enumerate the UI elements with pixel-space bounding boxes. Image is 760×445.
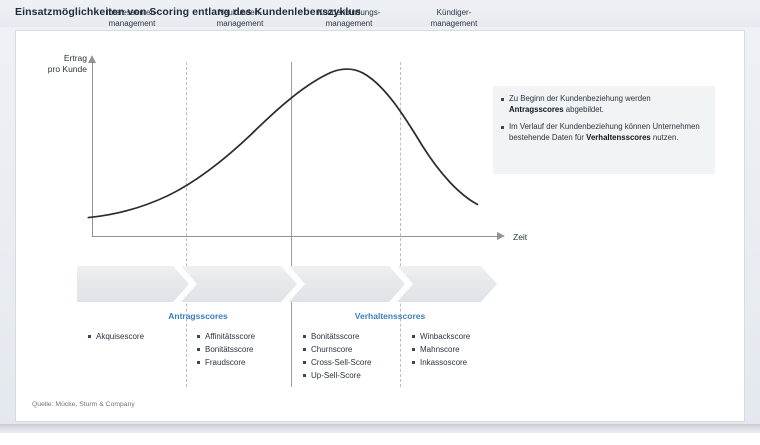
phase-2-line2: management xyxy=(217,19,264,28)
score-item: Inkassoscore xyxy=(412,356,470,369)
score-item: Bonitätsscore xyxy=(303,330,371,343)
y-axis-label: Ertrag pro Kunde xyxy=(37,53,87,75)
score-column-2: Affinitätsscore Bonitätsscore Fraudscore xyxy=(197,330,255,369)
y-axis-label-line1: Ertrag xyxy=(64,53,87,63)
phase-label-neukundenmanagement: Neukunden- management xyxy=(190,7,290,29)
score-column-3: Bonitätsscore Churnscore Cross-Sell-Scor… xyxy=(303,330,371,382)
score-group-heading-antragsscores: Antragsscores xyxy=(150,311,246,321)
callout-bullet-1: Zu Beginn der Kundenbeziehung werden Ant… xyxy=(509,94,705,115)
bottom-margin xyxy=(0,433,760,445)
score-item: Mahnscore xyxy=(412,343,470,356)
x-axis-line xyxy=(92,236,498,237)
phase-4-line2: management xyxy=(431,19,478,28)
y-axis-line xyxy=(92,62,93,236)
phase-3-line2: management xyxy=(326,19,373,28)
phase-chevron-band xyxy=(77,266,497,302)
x-axis-arrowhead-icon xyxy=(497,232,505,240)
phase-2-line1: Neukunden- xyxy=(218,8,262,17)
callout-bullet-2: Im Verlauf der Kundenbeziehung können Un… xyxy=(509,122,705,143)
score-item: Bonitätsscore xyxy=(197,343,255,356)
phase-label-kuendigermanagement: Kündiger- management xyxy=(406,7,502,29)
score-item: Winbackscore xyxy=(412,330,470,343)
phase-label-kundenbindungsmanagement: Kundenbindungs- management xyxy=(294,7,404,29)
phase-1-line1: Interessenten- xyxy=(106,8,157,17)
score-item: Fraudscore xyxy=(197,356,255,369)
callout-bullet-1-bold: Antragsscores xyxy=(509,105,564,114)
y-axis-label-line2: pro Kunde xyxy=(48,64,87,74)
phase-divider-2 xyxy=(291,62,292,387)
x-axis-label: Zeit xyxy=(513,232,527,242)
score-column-1: Akquisescore xyxy=(88,330,144,343)
phase-1-line2: management xyxy=(109,19,156,28)
score-item: Affinitätsscore xyxy=(197,330,255,343)
score-item: Churnscore xyxy=(303,343,371,356)
bottom-shadow-bar xyxy=(0,424,760,433)
phase-divider-1 xyxy=(186,62,187,387)
score-item: Akquisescore xyxy=(88,330,144,343)
y-axis-arrowhead-icon xyxy=(88,55,96,63)
phase-3-line1: Kundenbindungs- xyxy=(318,8,381,17)
infographic-root: Einsatzmöglichkeiten von Scoring entlang… xyxy=(0,0,760,445)
score-item: Cross-Sell-Score xyxy=(303,356,371,369)
score-column-4: Winbackscore Mahnscore Inkassoscore xyxy=(412,330,470,369)
phase-4-line1: Kündiger- xyxy=(437,8,472,17)
callout-bullet-1-pre: Zu Beginn der Kundenbeziehung werden xyxy=(509,94,651,103)
score-item: Up-Sell-Score xyxy=(303,369,371,382)
score-group-heading-verhaltensscores: Verhaltensscores xyxy=(335,311,445,321)
callout-box: Zu Beginn der Kundenbeziehung werden Ant… xyxy=(493,86,715,174)
source-note: Quelle: Mücke, Sturm & Company xyxy=(32,401,135,408)
callout-bullet-2-bold: Verhaltensscores xyxy=(586,133,651,142)
phase-divider-3 xyxy=(400,62,401,387)
callout-bullet-2-post: nutzen. xyxy=(651,133,679,142)
callout-bullet-1-post: abgebildet. xyxy=(564,105,604,114)
phase-label-interessentenmanagement: Interessenten- management xyxy=(82,7,182,29)
